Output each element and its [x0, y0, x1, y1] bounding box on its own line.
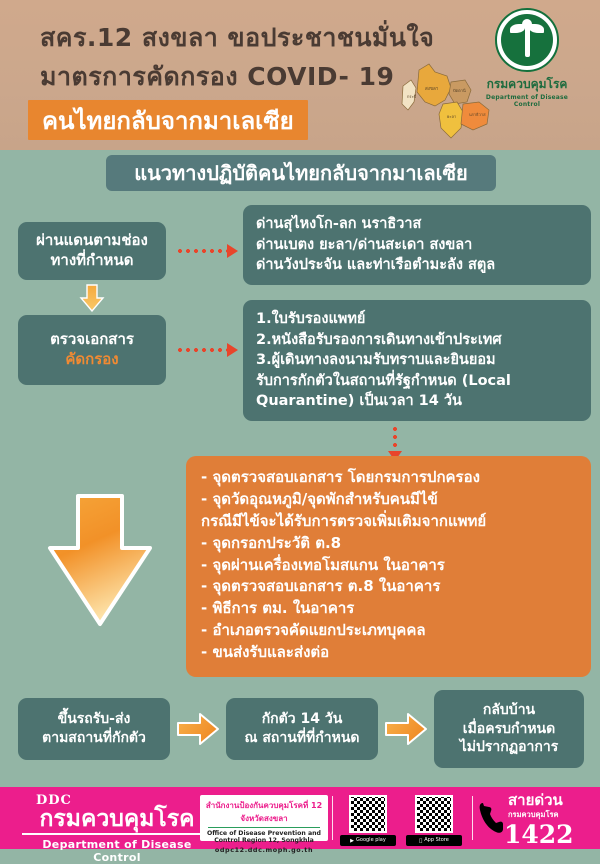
- down-arrow-icon-large: [40, 490, 160, 630]
- info-box-documents: 1.ใบรับรองแพทย์ 2.หนังสือรับรองการเดินทา…: [243, 300, 591, 421]
- document-line-1: 1.ใบรับรองแพทย์: [256, 309, 578, 330]
- info-box-checkpoints: ด่านสุไหงโก-ลก นราธิวาส ด่านเบตง ยะลา/ด่…: [243, 205, 591, 285]
- footer-divider-1: [332, 796, 333, 840]
- down-arrow-icon-small: [78, 284, 106, 312]
- header-title-line-1: สคร.12 สงขลา ขอประชาชนมั่นใจ: [40, 18, 434, 58]
- header-subtitle-banner: คนไทยกลับจากมาเลเซีย: [28, 100, 308, 140]
- procedure-item-2: - จุดวัดอุณหภูมิ/จุดพักสำหรับคนมีไข้: [201, 489, 576, 511]
- procedure-item-6: - พิธีการ ตม. ในอาคาร: [201, 598, 576, 620]
- map-label-pattani: ปัตตานี: [453, 88, 466, 93]
- final-step-3-line-3: ไม่ปรากฏอาการ: [460, 738, 559, 757]
- main-title-bar: แนวทางปฏิบัติคนไทยกลับจากมาเลเซีย: [106, 155, 496, 191]
- document-line-3: 3.ผู้เดินทางลงนามรับทราบและยินยอม: [256, 350, 578, 371]
- final-step-box-return-home: กลับบ้าน เมื่อครบกำหนด ไม่ปรากฏอาการ: [434, 690, 584, 768]
- ddc-logo-block: DDC กรมควบคุมโรค Department of Disease C…: [22, 793, 212, 864]
- procedure-item-3: - จุดกรอกประวัติ ต.8: [201, 533, 576, 555]
- document-line-4: รับการกักตัวในสถานที่รัฐกำหนด (Local: [256, 371, 578, 392]
- step-2-accent-line: คัดกรอง: [65, 350, 118, 370]
- play-triangle-icon: ▶: [350, 838, 354, 844]
- app-store-badge[interactable]:  App Store: [406, 835, 462, 846]
- checkpoint-line-3: ด่านวังประจัน และท่าเรือตำมะลัง สตูล: [256, 255, 578, 276]
- office-name-th: สำนักงานป้องกันควบคุมโรคที่ 12 จังหวัดสง…: [200, 799, 328, 825]
- step-box-border-crossing: ผ่านแดนตามช่อง ทางที่กำหนด: [18, 222, 166, 280]
- map-label-narathiwat: นราธิวาส: [469, 112, 486, 117]
- qr-code-icon-ios[interactable]: [415, 795, 453, 833]
- map-label-songkhla: สงขลา: [425, 86, 439, 92]
- moph-seal-icon: [495, 8, 559, 72]
- document-line-5: Quarantine) เป็นเวลา 14 วัน: [256, 391, 578, 412]
- right-arrow-icon-2: [384, 712, 428, 746]
- procedure-item-7: - อำเภอตรวจคัดแยกประเภทบุคคล: [201, 620, 576, 642]
- final-step-3-line-2: เมื่อครบกำหนด: [463, 720, 555, 739]
- ddc-name-en: Department of Disease Control: [22, 838, 212, 864]
- google-play-label: Google play: [356, 838, 386, 843]
- footer-bar: DDC กรมควบคุมโรค Department of Disease C…: [0, 787, 600, 849]
- step-2-line-1: ตรวจเอกสาร: [50, 330, 134, 350]
- header-banner: สคร.12 สงขลา ขอประชาชนมั่นใจ มาตรการคัดก…: [0, 0, 600, 150]
- final-step-box-quarantine: กักตัว 14 วัน ณ สถานที่ที่กำหนด: [226, 698, 378, 760]
- final-step-1-line-2: ตามสถานที่กักตัว: [42, 729, 146, 748]
- telephone-handset-icon: [478, 801, 504, 835]
- final-step-2-line-2: ณ สถานที่ที่กำหนด: [244, 729, 359, 748]
- document-line-2: 2.หนังสือรับรองการเดินทางเข้าประเทศ: [256, 330, 578, 351]
- qr-google-play[interactable]: ▶ Google play: [340, 795, 396, 843]
- map-label-krabi: กระบี่: [407, 94, 417, 99]
- infographic-page: สคร.12 สงขลา ขอประชาชนมั่นใจ มาตรการคัดก…: [0, 0, 600, 849]
- office-divider: [208, 827, 320, 828]
- procedure-item-5: - จุดตรวจสอบเอกสาร ต.8 ในอาคาร: [201, 576, 576, 598]
- step-1-line-2: ทางที่กำหนด: [51, 251, 134, 271]
- checkpoint-line-2: ด่านเบตง ยะลา/ด่านสะเดา สงขลา: [256, 235, 578, 256]
- google-play-badge[interactable]: ▶ Google play: [340, 835, 396, 846]
- apple-icon: : [419, 838, 422, 844]
- office-info-card: สำนักงานป้องกันควบคุมโรคที่ 12 จังหวัดสง…: [200, 795, 328, 841]
- app-qr-codes: ▶ Google play  App Store: [340, 795, 470, 843]
- checkpoint-procedures-panel: - จุดตรวจสอบเอกสาร โดยกรมการปกครอง - จุด…: [186, 456, 591, 677]
- hotline-label-th: สายด่วน: [508, 793, 594, 808]
- procedure-item-4: - จุดผ่านเครื่องเทอโมสแกน ในอาคาร: [201, 555, 576, 577]
- ministry-logo: กรมควบคุมโรค Department of Disease Contr…: [472, 8, 582, 108]
- final-step-3-line-1: กลับบ้าน: [483, 701, 535, 720]
- map-label-yala: ยะลา: [447, 114, 456, 119]
- header-title-line-2: มาตรการคัดกรอง COVID- 19: [40, 57, 394, 97]
- dotted-arrow-right-2: [176, 344, 238, 356]
- main-title-text: แนวทางปฏิบัติคนไทยกลับจากมาเลเซีย: [134, 157, 468, 189]
- step-box-document-screening: ตรวจเอกสาร คัดกรอง: [18, 315, 166, 385]
- office-website-url: odpc12.ddc.moph.go.th: [200, 846, 328, 854]
- step-1-line-1: ผ่านแดนตามช่อง: [36, 231, 148, 251]
- logo-label-th: กรมควบคุมโรค: [472, 75, 582, 94]
- dotted-arrow-right-1: [176, 245, 238, 257]
- ddc-name-th: กรมควบคุมโรค: [22, 808, 212, 835]
- procedure-item-8: - ขนส่งรับและส่งต่อ: [201, 642, 576, 664]
- final-step-2-line-1: กักตัว 14 วัน: [262, 710, 343, 729]
- checkpoint-line-1: ด่านสุไหงโก-ลก นราธิวาส: [256, 214, 578, 235]
- hotline-block: สายด่วน กรมควบคุมโรค 1422: [478, 793, 594, 847]
- app-store-label: App Store: [424, 838, 449, 843]
- header-subtitle-text: คนไทยกลับจากมาเลเซีย: [42, 101, 294, 140]
- procedure-item-1: - จุดตรวจสอบเอกสาร โดยกรมการปกครอง: [201, 467, 576, 489]
- hotline-number: 1422: [504, 822, 594, 847]
- qr-app-store[interactable]:  App Store: [406, 795, 462, 843]
- footer-divider-2: [472, 796, 473, 840]
- procedure-item-2-note: กรณีมีไข้จะได้รับการตรวจเพิ่มเติมจากแพทย…: [201, 511, 576, 533]
- final-step-box-transport: ขึ้นรถรับ-ส่ง ตามสถานที่กักตัว: [18, 698, 170, 760]
- qr-code-icon-android[interactable]: [349, 795, 387, 833]
- logo-label-en: Department of Disease Control: [472, 94, 582, 108]
- office-name-en: Office of Disease Prevention and Control…: [200, 830, 328, 844]
- final-step-1-line-1: ขึ้นรถรับ-ส่ง: [58, 710, 131, 729]
- right-arrow-icon-1: [176, 712, 220, 746]
